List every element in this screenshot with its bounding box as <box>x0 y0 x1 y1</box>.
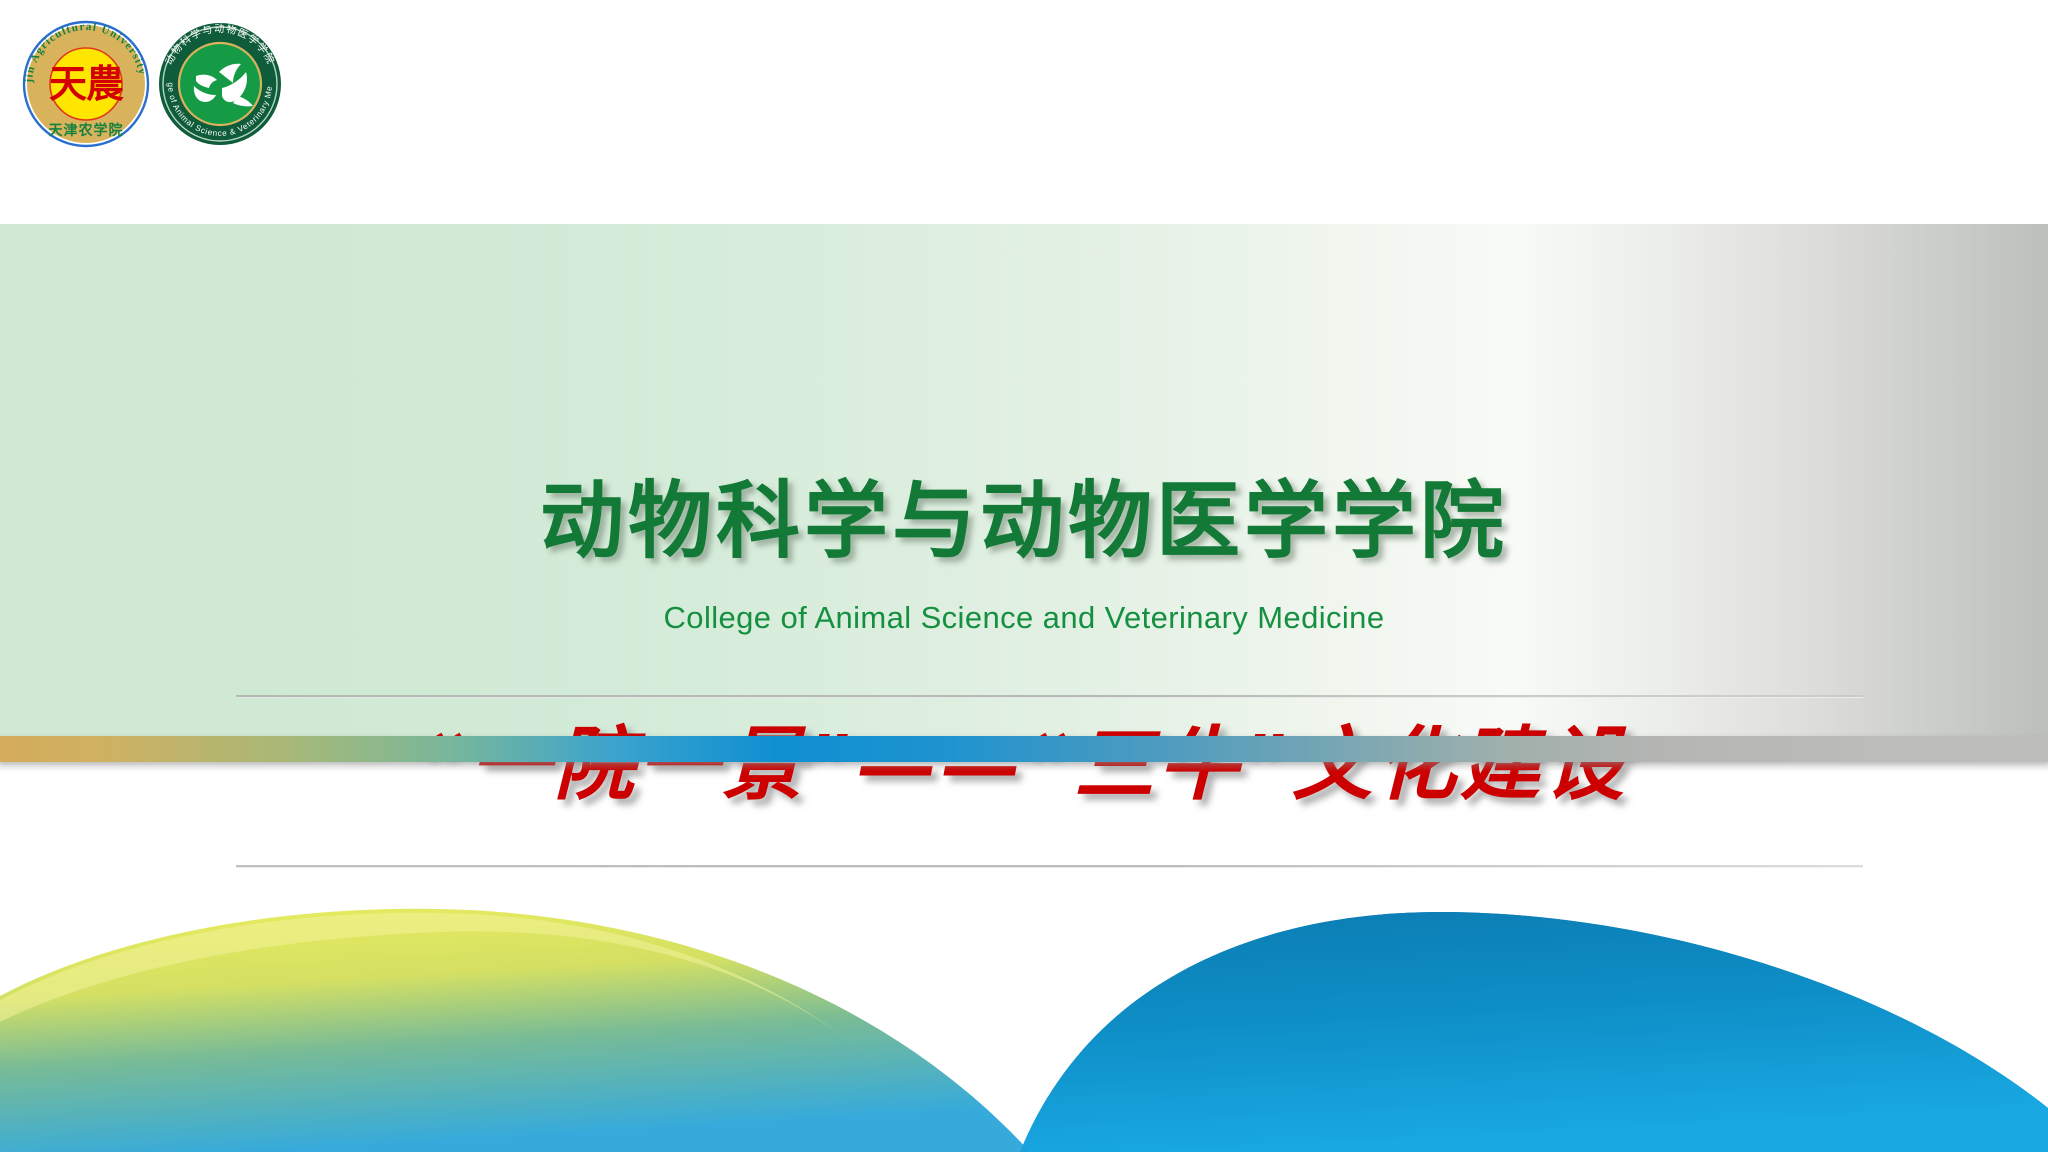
accent-strip <box>0 736 2048 762</box>
divider-top <box>236 695 1863 698</box>
college-of-animal-science-logo: 动物科学与动物医学学院 College of Animal Science & … <box>150 14 290 154</box>
accent-strip-shadow <box>0 762 2048 772</box>
decorative-waves <box>0 840 2048 1152</box>
title-banner-inner: 动物科学与动物医学学院 College of Animal Science an… <box>0 224 2048 736</box>
school-name-english: College of Animal Science and Veterinary… <box>0 602 2048 633</box>
title-banner: 动物科学与动物医学学院 College of Animal Science an… <box>0 224 2048 736</box>
school-name-chinese: 动物科学与动物医学学院 <box>0 479 2048 563</box>
tianjin-agricultural-university-logo: Tianjin Agricultural University 天農 天津农学院 <box>16 14 156 154</box>
svg-text:天津农学院: 天津农学院 <box>49 122 124 139</box>
svg-text:天農: 天農 <box>49 62 124 106</box>
logo-bar: Tianjin Agricultural University 天農 天津农学院… <box>0 0 2048 200</box>
